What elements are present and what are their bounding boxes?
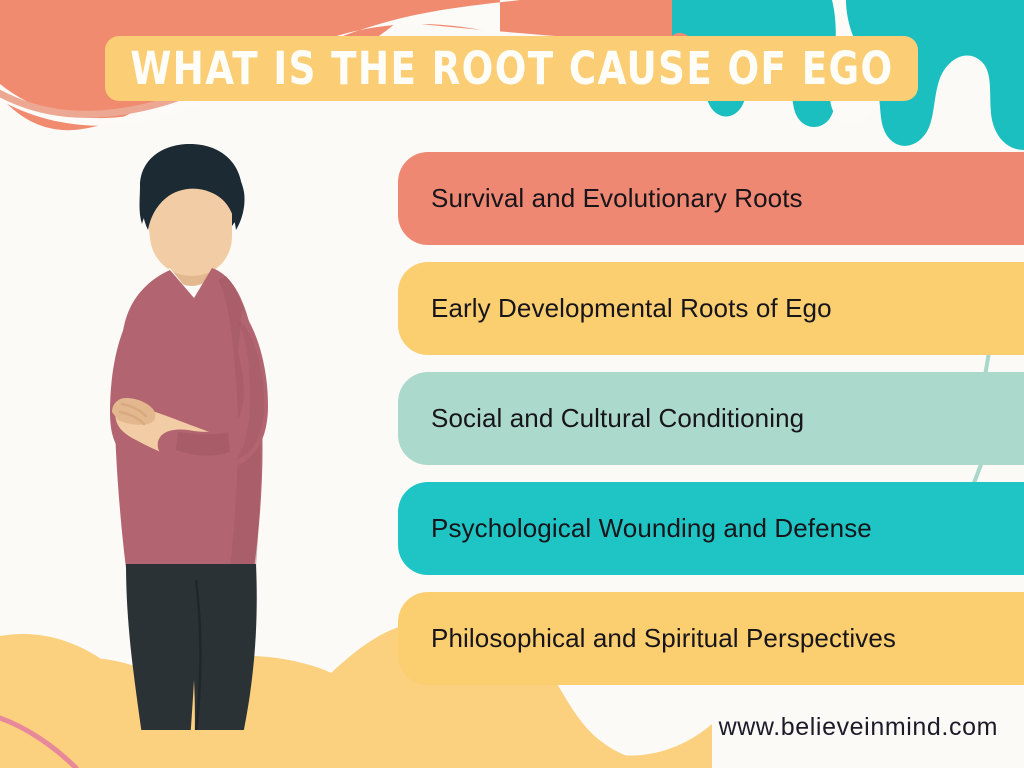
page-title: What is the root cause of ego — [130, 46, 893, 91]
sleeve-cuff — [176, 432, 230, 456]
page-title-banner: What is the root cause of ego — [105, 36, 918, 101]
list-item-label: Early Developmental Roots of Ego — [398, 293, 832, 324]
website-url[interactable]: www.believeinmind.com — [719, 713, 998, 742]
list-item[interactable]: Early Developmental Roots of Ego — [398, 262, 1024, 355]
list-item-label: Survival and Evolutionary Roots — [398, 183, 803, 214]
list-item[interactable]: Philosophical and Spiritual Perspectives — [398, 592, 1024, 685]
list-item-label: Psychological Wounding and Defense — [398, 513, 872, 544]
list-item-label: Philosophical and Spiritual Perspectives — [398, 623, 896, 654]
list-item[interactable]: Social and Cultural Conditioning — [398, 372, 1024, 465]
man-with-arms-crossed-illustration — [78, 140, 318, 730]
infographic-canvas: What is the root cause of ego Survival a… — [0, 0, 1024, 768]
cause-list: Survival and Evolutionary Roots Early De… — [398, 152, 1024, 702]
pants — [126, 564, 257, 730]
list-item-label: Social and Cultural Conditioning — [398, 403, 804, 434]
list-item[interactable]: Psychological Wounding and Defense — [398, 482, 1024, 575]
pink-accent-line-bottom — [0, 716, 76, 768]
list-item[interactable]: Survival and Evolutionary Roots — [398, 152, 1024, 245]
